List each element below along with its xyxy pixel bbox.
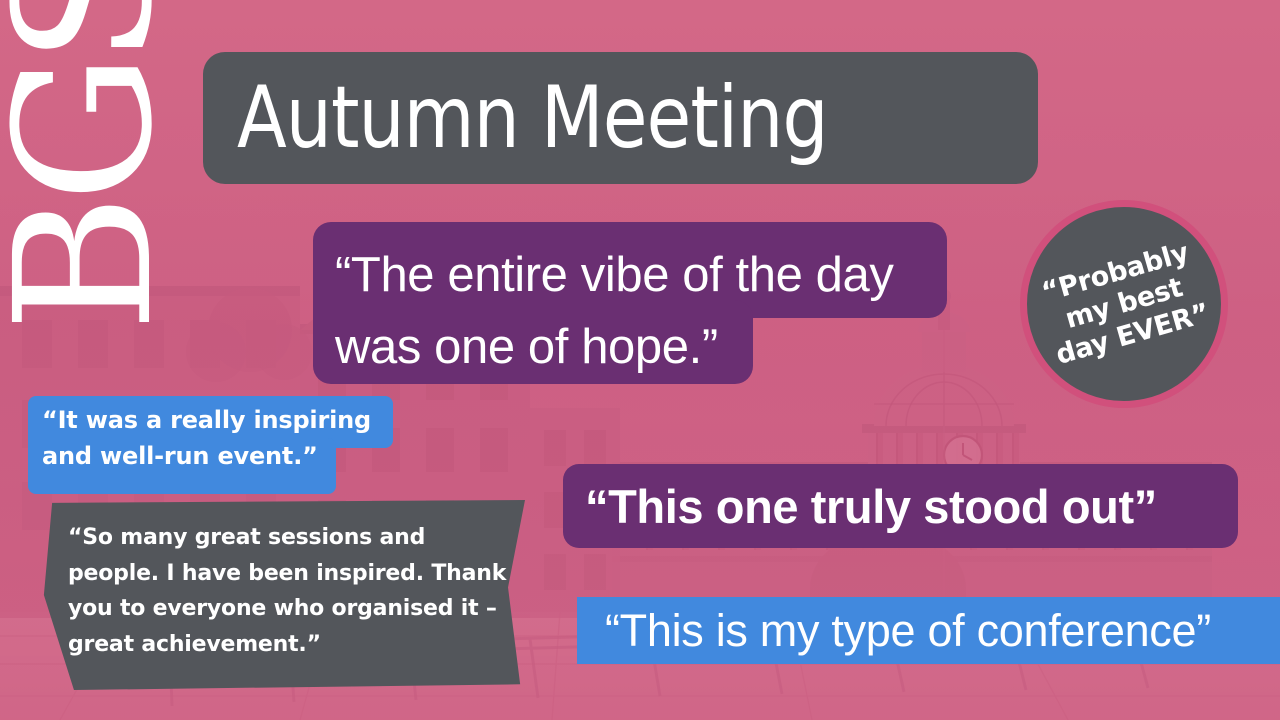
quote-hope-line1: “The entire vibe of the day <box>335 248 893 302</box>
poster-canvas: BGS 2025 Autumn Meeting “The entire vibe… <box>0 0 1280 720</box>
quote-card-type-of-conference: “This is my type of conference” <box>577 597 1280 664</box>
quote-card-stood-out: “This one truly stood out” <box>563 464 1238 548</box>
quote-stood-out-text: “This one truly stood out” <box>585 483 1157 530</box>
stamp-badge-text: “Probably my best day EVER” <box>1035 236 1213 371</box>
quote-inspiring-text: “It was a really inspiring and well-run … <box>42 402 387 475</box>
quote-hope-text: “The entire vibe of the day was one of h… <box>335 240 945 383</box>
title-box: Autumn Meeting <box>203 52 1038 184</box>
title-container: Autumn Meeting <box>203 52 1038 184</box>
quote-sessions-text: “So many great sessions and people. I ha… <box>68 520 518 663</box>
quote-type-of-conference-text: “This is my type of conference” <box>605 608 1211 653</box>
page-title: Autumn Meeting <box>237 75 828 161</box>
quote-card-sessions: “So many great sessions and people. I ha… <box>40 500 525 690</box>
stamp-badge: “Probably my best day EVER” <box>1020 200 1228 408</box>
quote-hope-line2: was one of hope.” <box>335 312 945 384</box>
quote-card-inspiring: “It was a really inspiring and well-run … <box>28 396 393 494</box>
quote-card-hope: “The entire vibe of the day was one of h… <box>313 222 947 384</box>
